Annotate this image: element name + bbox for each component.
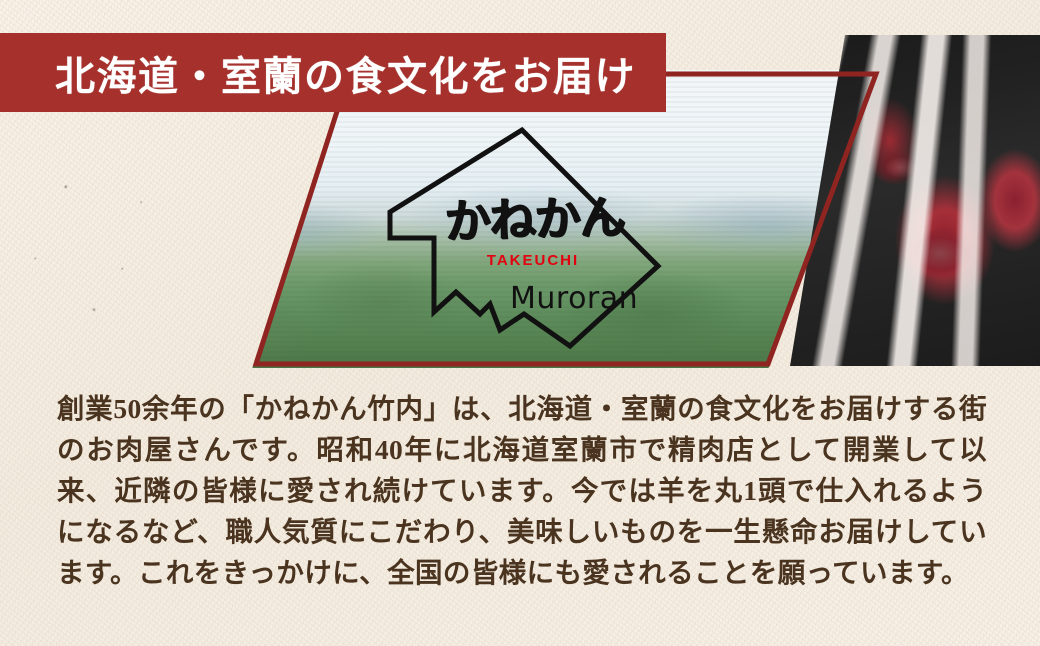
promo-page: 北海道・室蘭の食文化をお届け かねかん TAKEUCHI Muroran 創業5… [0, 0, 1040, 646]
logo-takeuchi-text: TAKEUCHI [448, 252, 618, 269]
logo-muroran-text: Muroran [510, 281, 638, 316]
about-description: 創業50余年の「かねかん竹内」は、北海道・室蘭の食文化をお届けする街のお肉屋さん… [57, 388, 987, 593]
kanekan-takeuchi-logo: かねかん TAKEUCHI Muroran [372, 118, 682, 350]
header-banner: 北海道・室蘭の食文化をお届け [0, 33, 666, 112]
about-description-text: 創業50余年の「かねかん竹内」は、北海道・室蘭の食文化をお届けする街のお肉屋さん… [57, 388, 987, 593]
grilled-chicken-photo [0, 110, 235, 366]
logo-brush-text: かねかん [409, 193, 660, 246]
page-title: 北海道・室蘭の食文化をお届け [55, 44, 636, 102]
